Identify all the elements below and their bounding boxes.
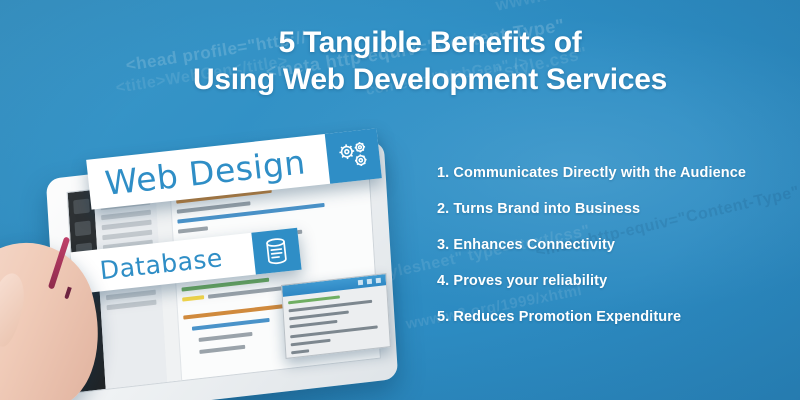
benefits-list: 1. Communicates Directly with the Audien… [437, 164, 789, 326]
minimize-icon[interactable] [358, 280, 363, 286]
tree-item [106, 290, 156, 301]
code-line [177, 201, 251, 213]
maximize-icon[interactable] [367, 279, 372, 285]
close-icon[interactable] [376, 278, 381, 284]
code-line [288, 295, 340, 303]
code-line [289, 311, 349, 320]
code-line [291, 339, 331, 346]
promo-banner: name="viewport" <span class="big any que… [0, 0, 800, 400]
tree-item [101, 210, 151, 221]
panel-icon [73, 199, 90, 215]
page-title: 5 Tangible Benefits of Using Web Develop… [150, 24, 710, 98]
gears-icon [325, 128, 382, 183]
list-item: 1. Communicates Directly with the Audien… [437, 164, 789, 182]
code-line [291, 349, 309, 354]
list-item: 2. Turns Brand into Business [437, 200, 789, 218]
code-line [178, 226, 208, 233]
code-line [290, 325, 378, 337]
list-item: 3. Enhances Connectivity [437, 236, 789, 254]
code-line [177, 203, 324, 223]
tree-item [107, 300, 157, 311]
list-item: 4. Proves your reliability [437, 272, 789, 290]
title-line-1: 5 Tangible Benefits of [279, 26, 582, 59]
search-icon [74, 221, 91, 237]
floating-code-window [281, 273, 391, 359]
code-line [192, 318, 270, 330]
code-line [199, 345, 245, 354]
title-line-2: Using Web Development Services [150, 61, 710, 98]
database-icon [251, 228, 301, 275]
tree-item [102, 220, 152, 231]
list-item: 5. Reduces Promotion Expenditure [437, 308, 789, 326]
tablet-illustration: Web Design Database [0, 132, 420, 400]
tree-item [102, 230, 152, 241]
code-line [290, 320, 338, 328]
code-window-body [283, 285, 390, 358]
thumb [0, 271, 28, 349]
code-line-highlight [182, 295, 204, 301]
code-line [199, 332, 253, 342]
